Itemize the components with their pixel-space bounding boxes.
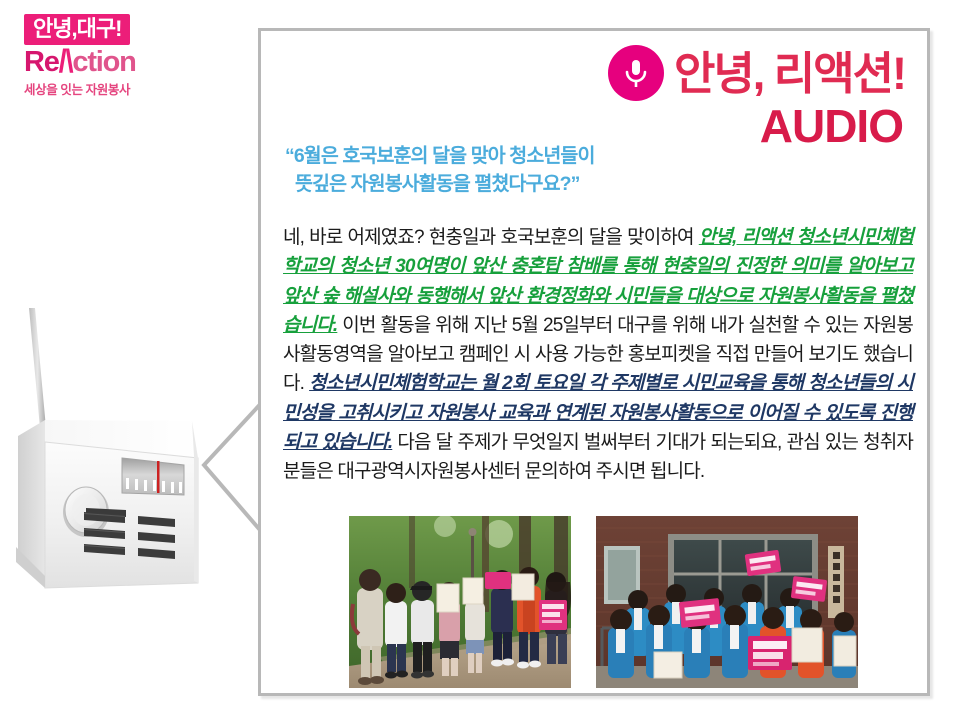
brand-tagline: 세상을 잇는 자원봉사 [24,79,174,98]
panel-header: 안녕, 리액션! AUDIO [608,45,905,149]
content-panel: 안녕, 리액션! AUDIO “6월은 호국보훈의 달을 맞아 청소년들이 뜻깊… [258,28,930,696]
article-segment-intro: 네, 바로 어제였죠? 현충일과 호국보훈의 달을 맞이하여 [283,227,699,248]
photo-strip [349,516,859,688]
microphone-icon [608,45,664,101]
brand-logo: 안녕,대구! Re/\ction 세상을 잇는 자원봉사 [24,14,174,98]
radio-illustration [16,300,266,630]
wordmark-re: Re [24,46,59,78]
brand-wordmark: Re/\ction [24,48,174,77]
radio-tuner-needle [157,461,160,493]
show-title: 안녕, 리액션! [674,51,905,96]
radio-antenna [29,308,46,428]
article-body: 네, 바로 어제였죠? 현충일과 호국보훈의 달을 맞이하여 안녕, 리액션 청… [283,223,913,486]
show-title-row: 안녕, 리액션! [608,45,905,101]
pull-quote-line-1: “6월은 호국보훈의 달을 맞아 청소년들이 [285,143,805,171]
brand-badge-text: 안녕,대구! [24,14,130,45]
photo-forest-trail [349,516,571,688]
pull-quote: “6월은 호국보훈의 달을 맞아 청소년들이 뜻깊은 자원봉사활동을 펼쳤다구요… [285,143,805,198]
wordmark-chevron-icon: /\ [59,46,73,78]
pull-quote-line-2: 뜻깊은 자원봉사활동을 펼쳤다구요?” [285,171,805,199]
photo-group-building [596,516,858,688]
wordmark-action: ction [72,46,135,78]
radio-graphic [16,300,266,630]
